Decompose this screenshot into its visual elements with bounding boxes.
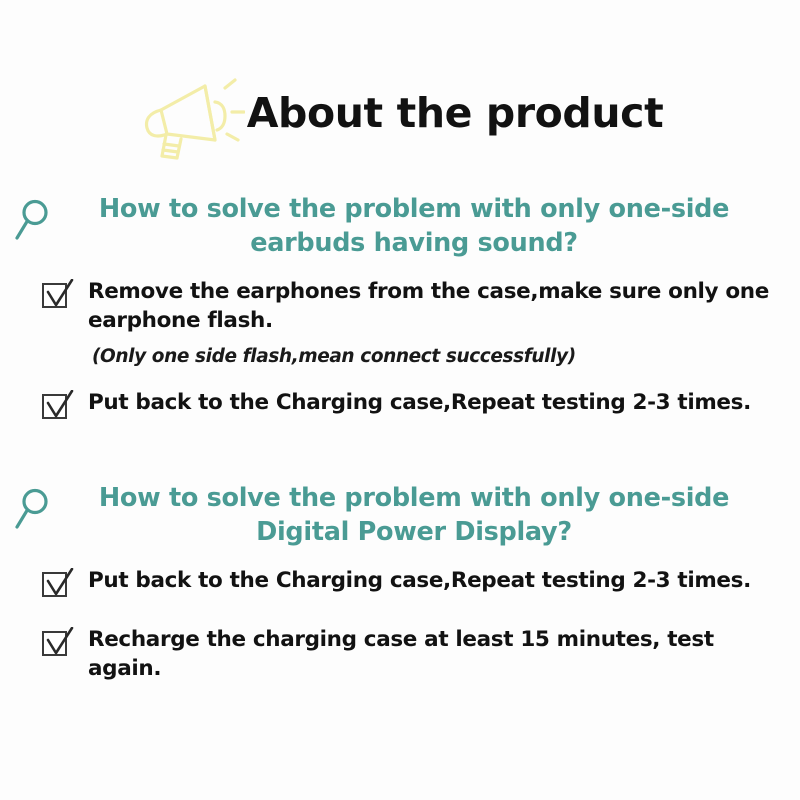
answer-text: Recharge the charging case at least 15 m… [88,626,786,683]
answer-line-1: Recharge the charging case at least 15 m… [88,627,660,652]
product-faq-page: About the product How to solve the probl… [0,0,800,800]
faq-section: How to solve the problem with only one-s… [0,482,800,683]
answer-text: Put back to the Charging case,Repeat tes… [88,567,786,596]
answer-line-1: Put back to the Charging case,Repeat tes… [88,390,751,415]
question-row: How to solve the problem with only one-s… [0,193,800,260]
answer-item: Put back to the Charging case,Repeat tes… [0,389,800,418]
question-row: How to solve the problem with only one-s… [0,482,800,549]
checkbox-checked-icon[interactable] [41,390,75,420]
question-line-2: Digital Power Display? [56,516,772,550]
checkbox-checked-icon[interactable] [41,279,75,309]
answer-line-1: Put back to the Charging case,Repeat tes… [88,568,751,593]
answer-text: Put back to the Charging case,Repeat tes… [88,389,786,418]
magnifier-icon [12,195,52,245]
answer-item: Put back to the Charging case,Repeat tes… [0,567,800,596]
megaphone-icon [137,68,245,164]
answer-list: Put back to the Charging case,Repeat tes… [0,567,800,683]
question-line-1: How to solve the problem with only one-s… [56,193,772,227]
magnifier-icon [12,484,52,534]
answer-line-1: Remove the earphones from the case,make … [88,279,718,304]
question-text: How to solve the problem with only one-s… [56,482,772,549]
page-header: About the product [0,62,800,164]
answer-text: Remove the earphones from the case,make … [88,278,786,335]
checkbox-checked-icon[interactable] [41,568,75,598]
faq-section: How to solve the problem with only one-s… [0,193,800,417]
page-title: About the product [247,93,664,134]
question-line-2: earbuds having sound? [56,227,772,261]
answer-list: Remove the earphones from the case,make … [0,278,800,417]
question-line-1: How to solve the problem with only one-s… [56,482,772,516]
checkbox-checked-icon[interactable] [41,627,75,657]
question-text: How to solve the problem with only one-s… [56,193,772,260]
answer-note: (Only one side flash,mean connect succes… [92,345,786,369]
answer-item: Recharge the charging case at least 15 m… [0,626,800,683]
answer-item: Remove the earphones from the case,make … [0,278,800,368]
